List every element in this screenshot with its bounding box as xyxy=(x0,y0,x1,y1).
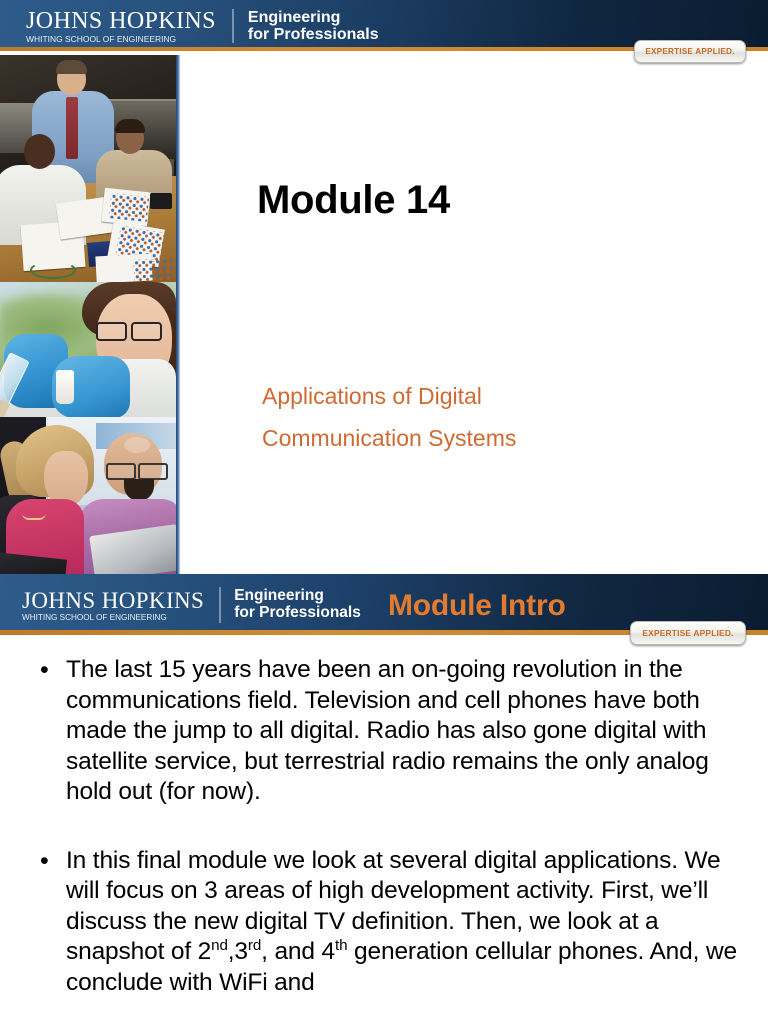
slide-body: • The last 15 years have been an on-goin… xyxy=(0,648,768,1024)
photo-column xyxy=(0,55,176,574)
man-head-highlight xyxy=(124,437,150,453)
jhu-logo: JOHNS HOPKINS WHITING SCHOOL OF ENGINEER… xyxy=(22,584,361,626)
expertise-applied-label: EXPERTISE APPLIED. xyxy=(645,47,734,56)
professor-tie xyxy=(66,97,78,159)
logo-divider xyxy=(232,9,234,43)
subtitle-line-2: Communication Systems xyxy=(262,417,692,459)
ep-line-1: Engineering xyxy=(248,9,379,26)
ordinal-suffix-3rd: rd xyxy=(248,937,261,954)
bullet-dot-icon: • xyxy=(40,846,66,877)
woman-necklace xyxy=(22,513,46,520)
jhu-wordmark: JOHNS HOPKINS WHITING SCHOOL OF ENGINEER… xyxy=(26,9,216,43)
ordinal-suffix-2nd: nd xyxy=(211,937,228,954)
man-eyeglasses-icon xyxy=(106,463,168,477)
jhu-whiting-text: WHITING SCHOOL OF ENGINEERING xyxy=(26,35,220,43)
scientist-eyeglasses-icon xyxy=(96,322,162,338)
bullet-text-2: In this final module we look at several … xyxy=(66,846,738,999)
jhu-hopkins-text: JOHNS HOPKINS xyxy=(26,9,216,33)
student-front-head xyxy=(24,134,55,169)
ordinal-suffix-4th: th xyxy=(335,937,347,954)
expertise-applied-label: EXPERTISE APPLIED. xyxy=(642,628,733,638)
photo-lab-team xyxy=(0,55,176,282)
jhu-whiting-text: WHITING SCHOOL OF ENGINEERING xyxy=(22,614,208,622)
engineering-professionals-text: Engineering for Professionals xyxy=(234,588,361,621)
bullet-dot-icon: • xyxy=(40,655,66,686)
engineering-professionals-text: Engineering for Professionals xyxy=(248,9,379,44)
jhu-hopkins-text: JOHNS HOPKINS xyxy=(22,589,204,612)
slide-title-text: Module 14 xyxy=(257,178,450,223)
circuit-diagram-3 xyxy=(133,258,172,282)
slide-deck: JOHNS HOPKINS WHITING SCHOOL OF ENGINEER… xyxy=(0,0,768,1024)
circuit-diagram-1 xyxy=(109,193,149,222)
slide-module-intro: JOHNS HOPKINS WHITING SCHOOL OF ENGINEER… xyxy=(0,574,768,1024)
subtitle-line-1: Applications of Digital xyxy=(262,375,692,417)
lab-component xyxy=(150,193,172,209)
professor-hair xyxy=(56,60,87,74)
slide-heading-text: Module Intro xyxy=(388,589,566,623)
lab-cable xyxy=(30,261,76,279)
bullet2-mid-2: , and 4 xyxy=(261,938,335,965)
student-right-hair xyxy=(115,119,145,133)
list-item: • The last 15 years have been an on-goin… xyxy=(0,655,768,808)
jhu-wordmark: JOHNS HOPKINS WHITING SCHOOL OF ENGINEER… xyxy=(22,589,204,622)
photo-column-divider xyxy=(176,55,180,574)
ep-line-2: for Professionals xyxy=(234,605,361,622)
bullet-text-1: The last 15 years have been an on-going … xyxy=(66,655,738,808)
sample-vial xyxy=(56,370,74,404)
photo-pair-laptop xyxy=(0,417,176,574)
expertise-applied-badge: EXPERTISE APPLIED. xyxy=(630,621,746,645)
jhu-logo: JOHNS HOPKINS WHITING SCHOOL OF ENGINEER… xyxy=(26,6,379,46)
bullet2-mid-1: ,3 xyxy=(228,938,248,965)
slide-title: JOHNS HOPKINS WHITING SCHOOL OF ENGINEER… xyxy=(0,0,768,574)
slide-subtitle: Applications of Digital Communication Sy… xyxy=(262,375,692,459)
ep-line-1: Engineering xyxy=(234,588,361,605)
photo-scientist-test-tube xyxy=(0,282,176,417)
ep-line-2: for Professionals xyxy=(248,26,379,43)
expertise-applied-badge: EXPERTISE APPLIED. xyxy=(634,40,746,63)
list-item: • In this final module we look at severa… xyxy=(0,846,768,999)
logo-divider xyxy=(219,587,221,623)
